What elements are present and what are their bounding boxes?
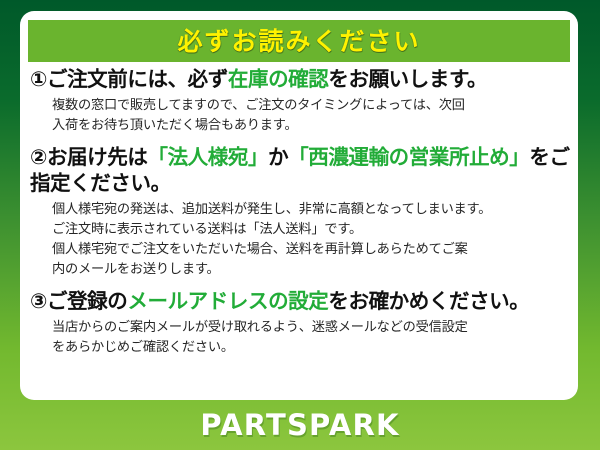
- item-3-body-line-2: をあらかじめご確認ください。: [52, 338, 570, 358]
- item-1-body-line-1: 複数の窓口で販売してますので、ご注文のタイミングによっては、次回: [52, 96, 570, 116]
- item-1-head-post: をお願いします。: [328, 67, 487, 91]
- item-3-body-line-1: 当店からのご案内メールが受け取れるよう、迷惑メールなどの受信設定: [52, 318, 570, 338]
- item-3-marker: ③: [30, 289, 47, 313]
- item-1-head-pre: ご注文前には、必ず: [47, 67, 228, 91]
- item-2-head-highlight-1: 「法人様宛」: [147, 145, 268, 169]
- item-2-body-line-1: 個人様宅宛の発送は、追加送料が発生し、非常に高額となってしまいます。: [52, 200, 570, 220]
- item-2-marker: ②: [30, 145, 47, 169]
- header-band: 必ずお読みください: [28, 20, 570, 62]
- item-3-head-highlight: メールアドレスの設定: [127, 289, 328, 313]
- item-1-body: 複数の窓口で販売してますので、ご注文のタイミングによっては、次回 入荷をお待ち頂…: [30, 96, 570, 136]
- item-2-body: 個人様宅宛の発送は、追加送料が発生し、非常に高額となってしまいます。 ご注文時に…: [30, 200, 570, 280]
- item-2-heading: ②お届け先は「法人様宛」か「西濃運輸の営業所止め」をご指定ください。: [30, 145, 570, 197]
- list-item: ②お届け先は「法人様宛」か「西濃運輸の営業所止め」をご指定ください。 個人様宅宛…: [30, 145, 570, 280]
- item-3-head-post: をお確かめください。: [328, 289, 529, 313]
- item-1-heading: ①ご注文前には、必ず在庫の確認をお願いします。: [30, 67, 570, 93]
- item-1-head-highlight: 在庫の確認: [228, 67, 329, 91]
- list-item: ③ご登録のメールアドレスの設定をお確かめください。 当店からのご案内メールが受け…: [30, 289, 570, 358]
- item-3-heading: ③ご登録のメールアドレスの設定をお確かめください。: [30, 289, 570, 315]
- page-title: 必ずお読みください: [177, 29, 420, 54]
- notice-card: 必ずお読みください ①ご注文前には、必ず在庫の確認をお願いします。 複数の窓口で…: [20, 11, 578, 400]
- item-2-body-line-4: 内のメールをお送りします。: [52, 260, 570, 280]
- notice-banner: 必ずお読みください ①ご注文前には、必ず在庫の確認をお願いします。 複数の窓口で…: [0, 0, 600, 450]
- list-item: ①ご注文前には、必ず在庫の確認をお願いします。 複数の窓口で販売してますので、ご…: [30, 67, 570, 136]
- item-3-head-pre: ご登録の: [47, 289, 127, 313]
- item-2-body-line-2: ご注文時に表示されている送料は「法人送料」です。: [52, 220, 570, 240]
- notice-list: ①ご注文前には、必ず在庫の確認をお願いします。 複数の窓口で販売してますので、ご…: [20, 67, 578, 358]
- item-2-head-mid: か: [268, 145, 288, 169]
- footer-band: PARTSPARK: [0, 400, 600, 450]
- item-1-marker: ①: [30, 67, 47, 91]
- item-2-head-pre: お届け先は: [47, 145, 148, 169]
- brand-logo: PARTSPARK: [200, 411, 399, 440]
- item-2-body-line-3: 個人様宅宛でご注文をいただいた場合、送料を再計算しあらためてご案: [52, 240, 570, 260]
- item-3-body: 当店からのご案内メールが受け取れるよう、迷惑メールなどの受信設定 をあらかじめご…: [30, 318, 570, 358]
- item-1-body-line-2: 入荷をお待ち頂いただく場合もあります。: [52, 116, 570, 136]
- item-2-head-highlight-2: 「西濃運輸の営業所止め」: [288, 145, 529, 169]
